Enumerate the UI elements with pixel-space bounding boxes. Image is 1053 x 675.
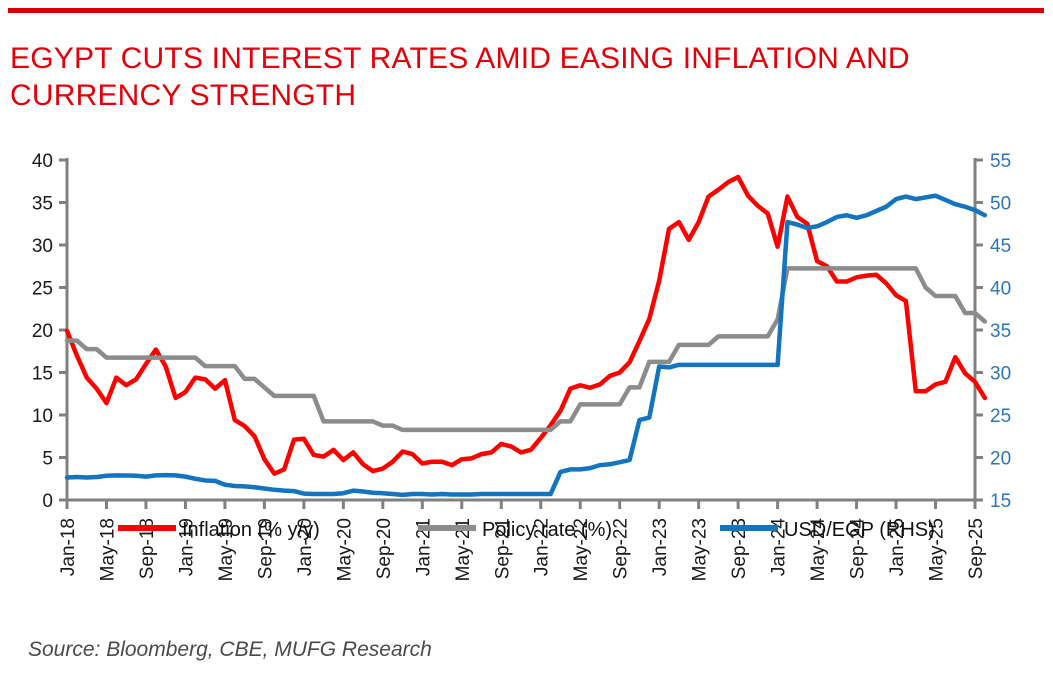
x-axis-tick-label: May-18 [97, 518, 118, 581]
y-axis-left-tick-label: 10 [32, 406, 53, 427]
page-title: EGYPT CUTS INTEREST RATES AMID EASING IN… [10, 40, 1020, 114]
y-axis-right-tick-label: 15 [990, 491, 1011, 512]
y-axis-right-tick-label: 50 [990, 194, 1011, 215]
series-line-policy-rate [67, 268, 985, 430]
y-axis-left-tick-label: 30 [32, 236, 53, 257]
x-axis-tick-label: May-23 [690, 518, 711, 581]
chart-legend: Inflation (% y/y)Policy rate (%)USD/EGP … [118, 519, 935, 541]
line-chart: 0510152025303540152025303540455055Jan-18… [0, 130, 1053, 600]
x-axis-tick-label: Sep-22 [611, 518, 632, 579]
x-axis-tick-label: May-20 [334, 518, 355, 581]
y-axis-left-tick-label: 5 [42, 449, 53, 470]
y-axis-right-tick-label: 40 [990, 279, 1011, 300]
y-axis-left-tick-label: 20 [32, 321, 53, 342]
series-lines [67, 177, 985, 495]
y-axis-right-tick-label: 35 [990, 321, 1011, 342]
chart-container: 0510152025303540152025303540455055Jan-18… [0, 130, 1053, 600]
y-axis-left-tick-label: 0 [42, 491, 53, 512]
y-axis-right-tick-label: 30 [990, 364, 1011, 385]
y-axis-left-tick-label: 15 [32, 364, 53, 385]
legend-label-1: Inflation (% y/y) [182, 519, 320, 541]
legend-label-3: USD/EGP (RHS) [784, 519, 935, 541]
x-axis-tick-label: Jan-23 [650, 518, 671, 576]
source-note: Source: Bloomberg, CBE, MUFG Research [28, 638, 432, 662]
y-axis-right-tick-label: 45 [990, 236, 1011, 257]
y-axis-left-tick-label: 35 [32, 194, 53, 215]
y-axis-right-tick-label: 55 [990, 151, 1011, 172]
x-axis-tick-label: Sep-25 [966, 518, 987, 579]
top-red-rule [8, 8, 1044, 13]
y-axis-left-tick-label: 25 [32, 279, 53, 300]
y-axis-left-tick-label: 40 [32, 151, 53, 172]
axes [59, 158, 983, 509]
y-axis-right-tick-label: 20 [990, 449, 1011, 470]
y-axis-right-tick-label: 25 [990, 406, 1011, 427]
legend-label-2: Policy rate (%) [482, 519, 612, 541]
x-axis-tick-label: Jan-18 [58, 518, 79, 576]
x-axis-tick-label: Sep-20 [374, 518, 395, 579]
